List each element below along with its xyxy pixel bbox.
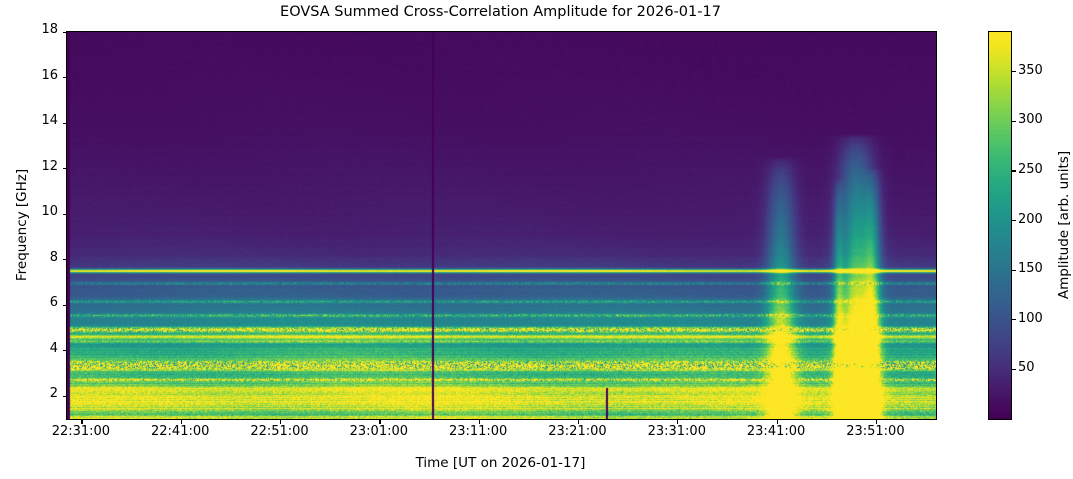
colorbar-tick-label: 200 <box>1018 212 1043 227</box>
y-axis-tick-label: 10 <box>41 204 58 219</box>
y-axis-tick <box>63 168 68 169</box>
y-axis-tick-label: 8 <box>50 250 58 265</box>
colorbar-tick-label: 50 <box>1018 360 1035 375</box>
x-axis-tick <box>379 419 380 424</box>
x-axis-tick <box>777 419 778 424</box>
colorbar-gradient <box>989 32 1011 419</box>
page-title: EOVSA Summed Cross-Correlation Amplitude… <box>0 4 1001 20</box>
y-axis-tick <box>63 396 68 397</box>
y-axis-tick <box>63 350 68 351</box>
x-axis-tick-label: 22:31:00 <box>36 424 126 439</box>
x-axis-tick-label: 23:51:00 <box>830 424 920 439</box>
x-axis-label: Time [UT on 2026-01-17] <box>66 455 935 471</box>
colorbar: 50100150200250300350 <box>988 31 1012 420</box>
x-axis-tick-label: 23:31:00 <box>632 424 722 439</box>
colorbar-tick-label: 250 <box>1018 162 1043 177</box>
y-axis-tick <box>63 32 68 33</box>
y-axis-tick <box>63 77 68 78</box>
spectrogram-figure: EOVSA Summed Cross-Correlation Amplitude… <box>0 0 1073 479</box>
x-axis-tick-label: 23:01:00 <box>334 424 424 439</box>
colorbar-tick <box>1011 71 1016 72</box>
y-axis-tick-label: 6 <box>50 295 58 310</box>
y-axis-label: Frequency [GHz] <box>14 168 30 280</box>
y-axis-tick <box>63 123 68 124</box>
colorbar-tick <box>1011 270 1016 271</box>
y-axis-tick <box>63 305 68 306</box>
x-axis-tick-label: 23:11:00 <box>433 424 523 439</box>
x-axis-tick <box>578 419 579 424</box>
colorbar-tick-label: 300 <box>1018 112 1043 127</box>
colorbar-tick-label: 350 <box>1018 63 1043 78</box>
colorbar-tick <box>1011 220 1016 221</box>
x-axis-tick <box>677 419 678 424</box>
x-axis-tick-label: 23:41:00 <box>731 424 821 439</box>
colorbar-tick <box>1011 121 1016 122</box>
spectrogram-axes <box>66 31 937 420</box>
x-axis-tick <box>181 419 182 424</box>
colorbar-tick-label: 100 <box>1018 311 1043 326</box>
y-axis-tick-label: 12 <box>41 159 58 174</box>
x-axis-tick <box>280 419 281 424</box>
y-axis-tick <box>63 259 68 260</box>
colorbar-label: Amplitude [arb. units] <box>1056 150 1072 298</box>
y-axis-tick-label: 18 <box>41 22 58 37</box>
y-axis-tick-label: 4 <box>50 341 58 356</box>
x-axis-tick-label: 22:51:00 <box>235 424 325 439</box>
spectrogram-image <box>67 32 936 419</box>
x-axis-tick <box>81 419 82 424</box>
x-axis-tick <box>876 419 877 424</box>
colorbar-tick <box>1011 170 1016 171</box>
x-axis-tick <box>479 419 480 424</box>
x-axis-tick-label: 22:41:00 <box>135 424 225 439</box>
y-axis-tick <box>63 214 68 215</box>
y-axis-tick-label: 2 <box>50 386 58 401</box>
y-axis-tick-label: 16 <box>41 68 58 83</box>
x-axis-tick-label: 23:21:00 <box>532 424 622 439</box>
colorbar-tick-label: 150 <box>1018 261 1043 276</box>
colorbar-tick <box>1011 369 1016 370</box>
y-axis-tick-label: 14 <box>41 113 58 128</box>
colorbar-tick <box>1011 319 1016 320</box>
